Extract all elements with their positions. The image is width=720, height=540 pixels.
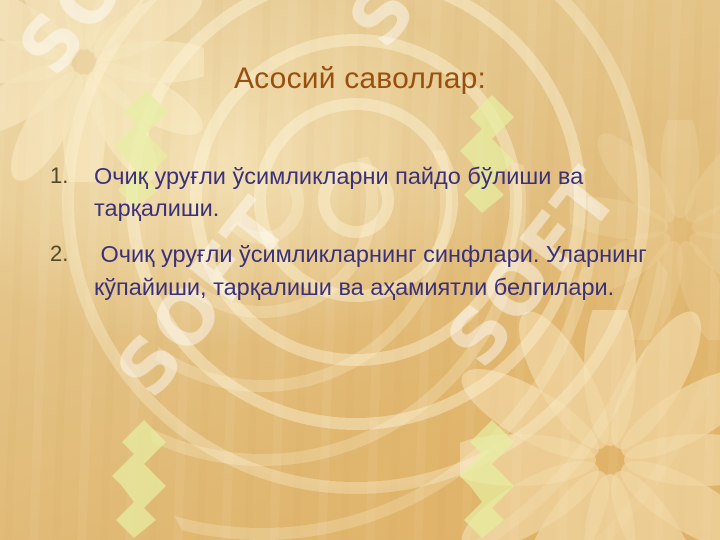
list-item: 2. Очиқ уруғли ўсимликларнинг синфлари. …: [50, 238, 680, 302]
slide-content: Асосий саволлар: 1. Очиқ уруғли ўсимликл…: [0, 0, 720, 540]
list-item: 1. Очиқ уруғли ўсимликларни пайдо бўлиши…: [50, 160, 680, 224]
question-list: 1. Очиқ уруғли ўсимликларни пайдо бўлиши…: [50, 160, 680, 317]
slide: SOFT SOFT SOFT SOFT Асосий саволлар: 1. …: [0, 0, 720, 540]
list-item-text: Очиқ уруғли ўсимликларнинг синфлари. Ула…: [94, 238, 680, 302]
list-item-marker: 1.: [50, 160, 94, 191]
list-item-text: Очиқ уруғли ўсимликларни пайдо бўлиши ва…: [94, 160, 680, 224]
slide-title: Асосий саволлар:: [0, 62, 720, 97]
list-item-marker: 2.: [50, 238, 94, 269]
